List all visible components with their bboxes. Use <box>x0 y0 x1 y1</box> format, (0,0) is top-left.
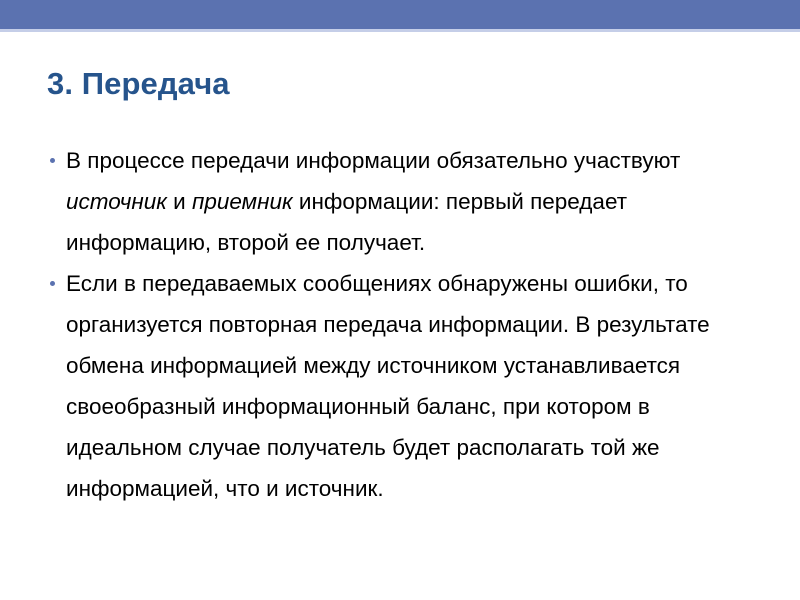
bullet-list-item: В процессе передачи информации обязатель… <box>47 140 747 263</box>
header-accent-band <box>0 0 800 29</box>
bullet-item-text: В процессе передачи информации обязатель… <box>66 140 747 263</box>
slide-title: 3. Передача <box>47 64 757 104</box>
slide-body: В процессе передачи информации обязатель… <box>47 140 747 509</box>
bullet-dot-icon <box>50 281 55 286</box>
bullet-list-item: Если в передаваемых сообщениях обнаружен… <box>47 263 747 509</box>
bullet-item-text: Если в передаваемых сообщениях обнаружен… <box>66 263 747 509</box>
header-accent-rule <box>0 29 800 32</box>
presentation-slide: 3. Передача В процессе передачи информац… <box>0 0 800 600</box>
bullet-dot-icon <box>50 158 55 163</box>
